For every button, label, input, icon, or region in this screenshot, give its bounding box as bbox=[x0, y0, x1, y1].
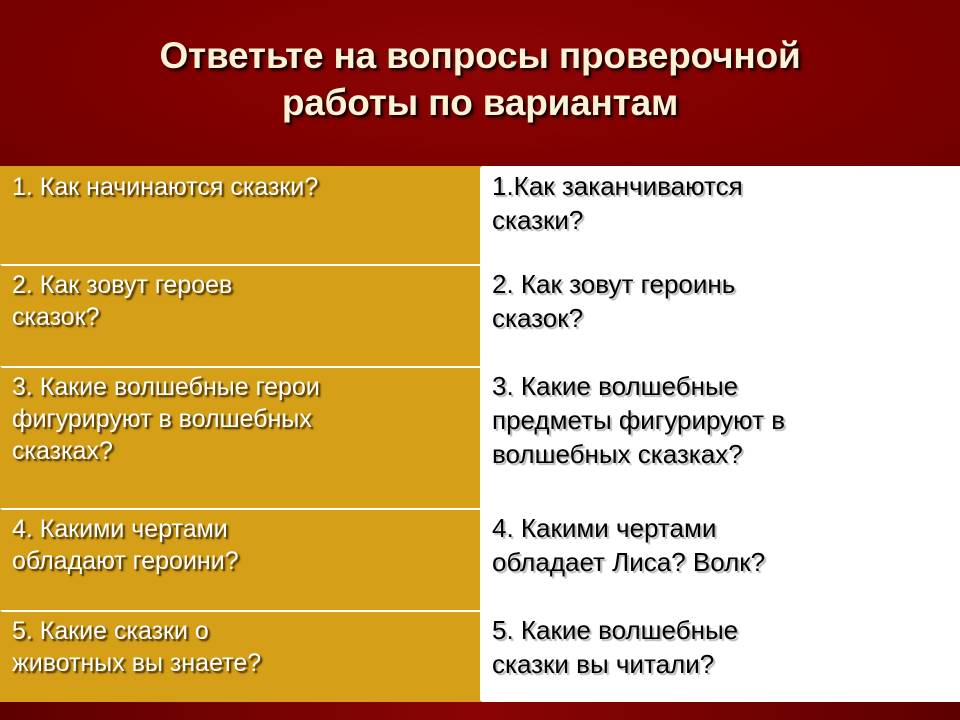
table-row: 4. Какими чертами обладают героини? 4. К… bbox=[0, 508, 960, 610]
table-cell-variant2[interactable]: 2. Как зовут героинь сказок? bbox=[482, 264, 960, 366]
question-text: 4. Какими чертами обладает Лиса? Волк? bbox=[492, 512, 952, 580]
question-text: 4. Какими чертами обладают героини? bbox=[12, 514, 472, 578]
question-text: 2. Как зовут героинь сказок? bbox=[492, 268, 952, 336]
table-row: 5. Какие сказки о животных вы знаете? 5.… bbox=[0, 610, 960, 702]
question-text: 5. Какие волшебные сказки вы читали? bbox=[492, 614, 952, 682]
table-cell-variant2[interactable]: 1.Как заканчиваются сказки? bbox=[482, 166, 960, 264]
table-cell-variant2[interactable]: 3. Какие волшебные предметы фигурируют в… bbox=[482, 366, 960, 508]
question-text: 3. Какие волшебные предметы фигурируют в… bbox=[492, 370, 952, 471]
table-row: 3. Какие волшебные герои фигурируют в во… bbox=[0, 366, 960, 508]
table-cell-variant1[interactable]: 2. Как зовут героев сказок? bbox=[0, 264, 482, 366]
question-text: 3. Какие волшебные герои фигурируют в во… bbox=[12, 372, 472, 467]
slide-root: Ответьте на вопросы проверочной работы п… bbox=[0, 0, 960, 720]
title-banner: Ответьте на вопросы проверочной работы п… bbox=[0, 0, 960, 166]
question-text: 1. Как начинаются сказки? bbox=[12, 172, 472, 204]
table-cell-variant1[interactable]: 3. Какие волшебные герои фигурируют в во… bbox=[0, 366, 482, 508]
questions-table: 1. Как начинаются сказки? 1.Как заканчив… bbox=[0, 166, 960, 702]
table-cell-variant1[interactable]: 5. Какие сказки о животных вы знаете? bbox=[0, 610, 482, 702]
table-row: 1. Как начинаются сказки? 1.Как заканчив… bbox=[0, 166, 960, 264]
table-cell-variant2[interactable]: 4. Какими чертами обладает Лиса? Волк? bbox=[482, 508, 960, 610]
table-cell-variant2[interactable]: 5. Какие волшебные сказки вы читали? bbox=[482, 610, 960, 702]
table-cell-variant1[interactable]: 1. Как начинаются сказки? bbox=[0, 166, 482, 264]
table-cell-variant1[interactable]: 4. Какими чертами обладают героини? bbox=[0, 508, 482, 610]
question-text: 5. Какие сказки о животных вы знаете? bbox=[12, 616, 472, 680]
question-text: 2. Как зовут героев сказок? bbox=[12, 270, 472, 334]
table-row: 2. Как зовут героев сказок? 2. Как зовут… bbox=[0, 264, 960, 366]
page-title: Ответьте на вопросы проверочной работы п… bbox=[0, 32, 960, 127]
question-text: 1.Как заканчиваются сказки? bbox=[492, 170, 952, 238]
bottom-decorative-band bbox=[0, 702, 960, 720]
